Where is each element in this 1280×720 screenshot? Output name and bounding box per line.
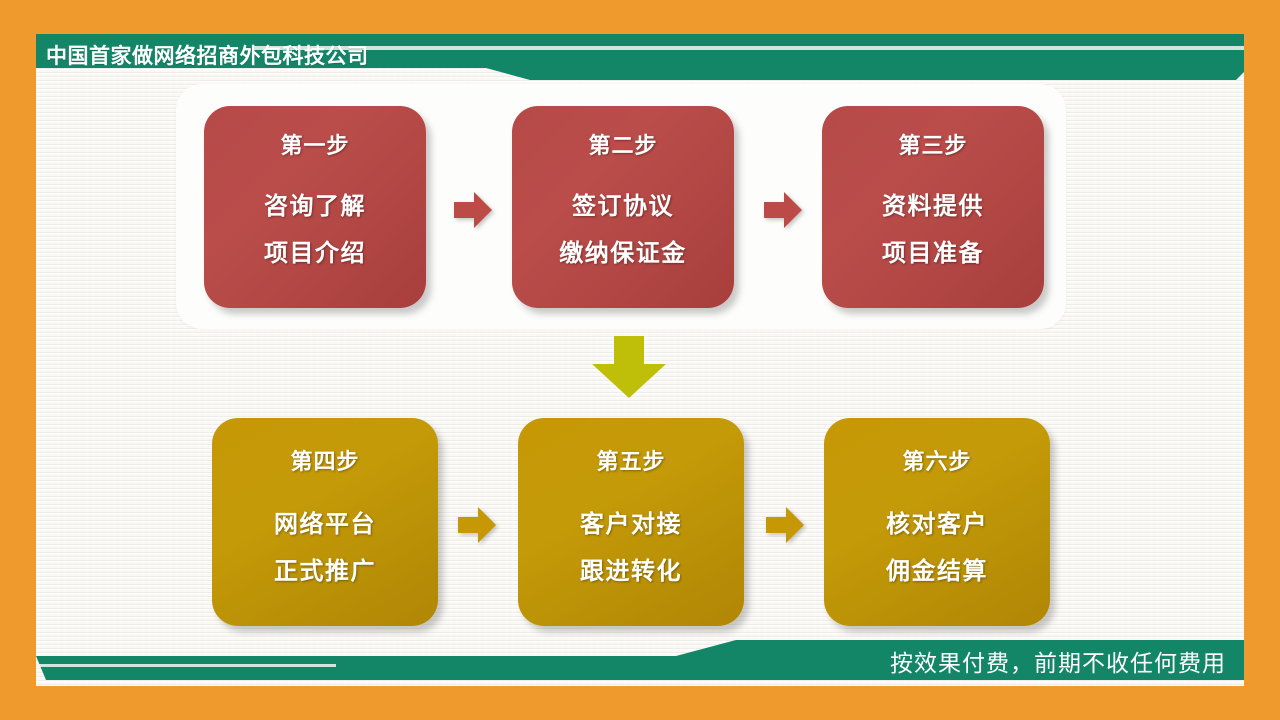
step-3-body: 资料提供 项目准备 (882, 186, 984, 280)
step-3-line-2: 项目准备 (882, 233, 984, 268)
step-2-title: 第二步 (588, 128, 657, 160)
step-6-line-1: 核对客户 (886, 504, 988, 539)
step-box-6[interactable]: 第六步 核对客户 佣金结算 (824, 418, 1050, 626)
step-box-3[interactable]: 第三步 资料提供 项目准备 (822, 106, 1044, 308)
page-title: 中国首家做网络招商外包科技公司 (46, 40, 369, 70)
arrow-right-icon-step1-step2 (454, 190, 492, 230)
step-3-line-1: 资料提供 (882, 186, 984, 221)
footer-slogan: 按效果付费，前期不收任何费用 (890, 644, 1226, 678)
step-box-4[interactable]: 第四步 网络平台 正式推广 (212, 418, 438, 626)
step-4-title: 第四步 (290, 444, 359, 476)
step-1-line-2: 项目介绍 (264, 233, 366, 268)
step-3-title: 第三步 (898, 128, 967, 160)
slide-root: 中国首家做网络招商外包科技公司 第一步 咨询了解 项目介绍 第二步 签订协议 缴… (0, 0, 1280, 720)
step-box-2[interactable]: 第二步 签订协议 缴纳保证金 (512, 106, 734, 308)
step-1-title: 第一步 (280, 128, 349, 160)
step-1-line-1: 咨询了解 (264, 186, 366, 221)
arrow-right-icon-step2-step3 (764, 190, 802, 230)
step-box-5[interactable]: 第五步 客户对接 跟进转化 (518, 418, 744, 626)
arrow-down-icon-row1-row2 (592, 336, 666, 398)
step-4-body: 网络平台 正式推广 (274, 504, 376, 598)
step-6-body: 核对客户 佣金结算 (886, 504, 988, 598)
step-6-title: 第六步 (902, 444, 971, 476)
step-2-body: 签订协议 缴纳保证金 (559, 186, 687, 280)
step-2-line-2: 缴纳保证金 (559, 233, 687, 268)
step-5-line-2: 跟进转化 (580, 551, 682, 586)
arrow-right-icon-step4-step5 (458, 505, 496, 545)
step-4-line-2: 正式推广 (274, 551, 376, 586)
step-6-line-2: 佣金结算 (886, 551, 988, 586)
step-1-body: 咨询了解 项目介绍 (264, 186, 366, 280)
step-2-line-1: 签订协议 (572, 186, 674, 221)
step-5-line-1: 客户对接 (580, 504, 682, 539)
step-5-title: 第五步 (596, 444, 665, 476)
step-5-body: 客户对接 跟进转化 (580, 504, 682, 598)
arrow-right-icon-step5-step6 (766, 505, 804, 545)
step-4-line-1: 网络平台 (274, 504, 376, 539)
step-box-1[interactable]: 第一步 咨询了解 项目介绍 (204, 106, 426, 308)
